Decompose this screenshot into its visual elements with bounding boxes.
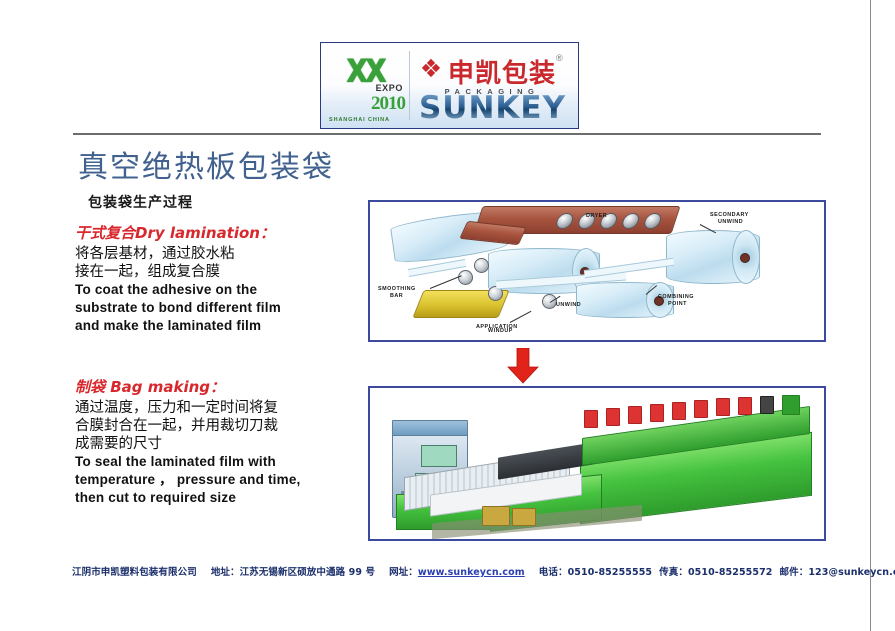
expo-city-label: SHANGHAI CHINA <box>329 117 390 123</box>
shanghai-expo-logo: xx EXPO 2010 SHANGHAI CHINA <box>321 43 409 128</box>
figure-label: SMOOTHING <box>378 286 416 293</box>
footer-fax: 0510-85255572 <box>688 567 773 578</box>
block-heading-dry-lamination: 干式复合Dry lamination： <box>75 222 365 243</box>
dry-lamination-diagram: DRYER SECONDARY UNWIND SMOOTHING BAR UNW… <box>368 200 826 342</box>
drive-motor-icon <box>512 508 536 526</box>
registered-trademark-icon: ® <box>556 53 563 63</box>
sunkey-logo: ❖ 申凯包装 ® PACKAGING SUNKEY <box>410 43 578 128</box>
figure-label: WINDUP <box>488 328 513 335</box>
en-line: To seal the laminated film with <box>75 453 365 471</box>
block-heading-bag-making: 制袋 Bag making： <box>75 376 365 397</box>
en-line: To coat the adhesive on the <box>75 281 365 299</box>
sealing-head-icon <box>738 397 752 415</box>
cn-line: 成需要的尺寸 <box>75 435 365 453</box>
nip-roll-icon <box>474 258 489 273</box>
leader-line <box>430 275 462 289</box>
en-line: temperature ， pressure and time, <box>75 471 365 489</box>
en-line: then cut to required size <box>75 489 365 507</box>
footer-address: 江苏无锡新区硕放中通路 99 号 <box>240 567 375 578</box>
sealing-head-icon <box>672 402 686 420</box>
figure-label: COMBINING <box>658 294 694 301</box>
sealing-head-icon <box>694 400 708 418</box>
sealing-head-icon <box>606 408 620 426</box>
leader-line <box>510 311 532 323</box>
text-block-bag-making: 制袋 Bag making： 通过温度，压力和一定时间将复 合膜封合在一起，并用… <box>75 376 365 507</box>
figure-label: BAR <box>390 293 403 300</box>
figure-label: SECONDARY <box>710 212 749 219</box>
sealing-head-icon <box>584 410 598 428</box>
figure-label: UNWIND <box>718 219 743 226</box>
cn-line: 通过温度，压力和一定时间将复 <box>75 399 365 417</box>
sunkey-s-mark-icon: ❖ <box>418 56 444 82</box>
title-divider-rule <box>73 133 821 135</box>
footer-company: 江阴市申凯塑料包装有限公司 <box>72 567 197 578</box>
figure-label: POINT <box>668 301 687 308</box>
footer-phone-label: 电话： <box>539 567 568 578</box>
cn-line: 将各层基材，通过胶水粘 <box>75 245 365 263</box>
slide-canvas: xx EXPO 2010 SHANGHAI CHINA ❖ 申凯包装 ® PAC… <box>0 0 895 631</box>
page-title: 真空绝热板包装袋 <box>78 142 334 186</box>
cn-line: 合膜封合在一起，并用裁切刀裁 <box>75 417 365 435</box>
footer-website-link[interactable]: www.sunkeycn.com <box>418 567 525 578</box>
footer-website-label: 网址： <box>389 567 418 578</box>
sealing-head-icon <box>716 398 730 416</box>
footer-phone: 0510-85255555 <box>568 567 653 578</box>
sunkey-brand-name: SUNKEY <box>410 93 575 123</box>
en-line: and make the laminated film <box>75 317 365 335</box>
en-line: substrate to bond different film <box>75 299 365 317</box>
sunkey-chinese-name: 申凯包装 <box>448 53 556 90</box>
tail-unit-icon <box>782 395 800 415</box>
hmi-screen-icon <box>421 445 457 467</box>
metering-roll-icon <box>458 270 473 285</box>
footer-email-label: 邮件： <box>780 567 809 578</box>
expo-year-label: 2010 <box>371 93 405 115</box>
page-border-right <box>870 0 871 631</box>
cn-line: 接在一起，组成复合膜 <box>75 263 365 281</box>
sealing-head-icon <box>650 404 664 422</box>
sealing-head-icon <box>628 406 642 424</box>
bag-making-machine-photo <box>368 386 826 541</box>
header-logo-band: xx EXPO 2010 SHANGHAI CHINA ❖ 申凯包装 ® PAC… <box>320 42 579 129</box>
secondary-unwind-roll-icon <box>666 230 760 284</box>
figure-label: DRYER <box>586 213 607 220</box>
page-subtitle: 包装袋生产过程 <box>88 192 193 212</box>
expo-word-label: EXPO <box>376 83 403 93</box>
figure-label: UNWIND <box>556 302 581 309</box>
footer-email: 123@sunkeycn.com <box>808 567 895 578</box>
cabinet-top-icon <box>392 420 468 436</box>
tail-unit-icon <box>760 396 774 414</box>
footer-fax-label: 传真： <box>659 567 688 578</box>
footer-contact-bar: 江阴市申凯塑料包装有限公司地址：江苏无锡新区硕放中通路 99 号网址：www.s… <box>72 564 872 578</box>
drive-motor-icon <box>482 506 510 526</box>
text-block-dry-lamination: 干式复合Dry lamination： 将各层基材，通过胶水粘 接在一起，组成复… <box>75 222 365 335</box>
process-down-arrow <box>506 348 540 384</box>
footer-address-label: 地址： <box>211 567 240 578</box>
